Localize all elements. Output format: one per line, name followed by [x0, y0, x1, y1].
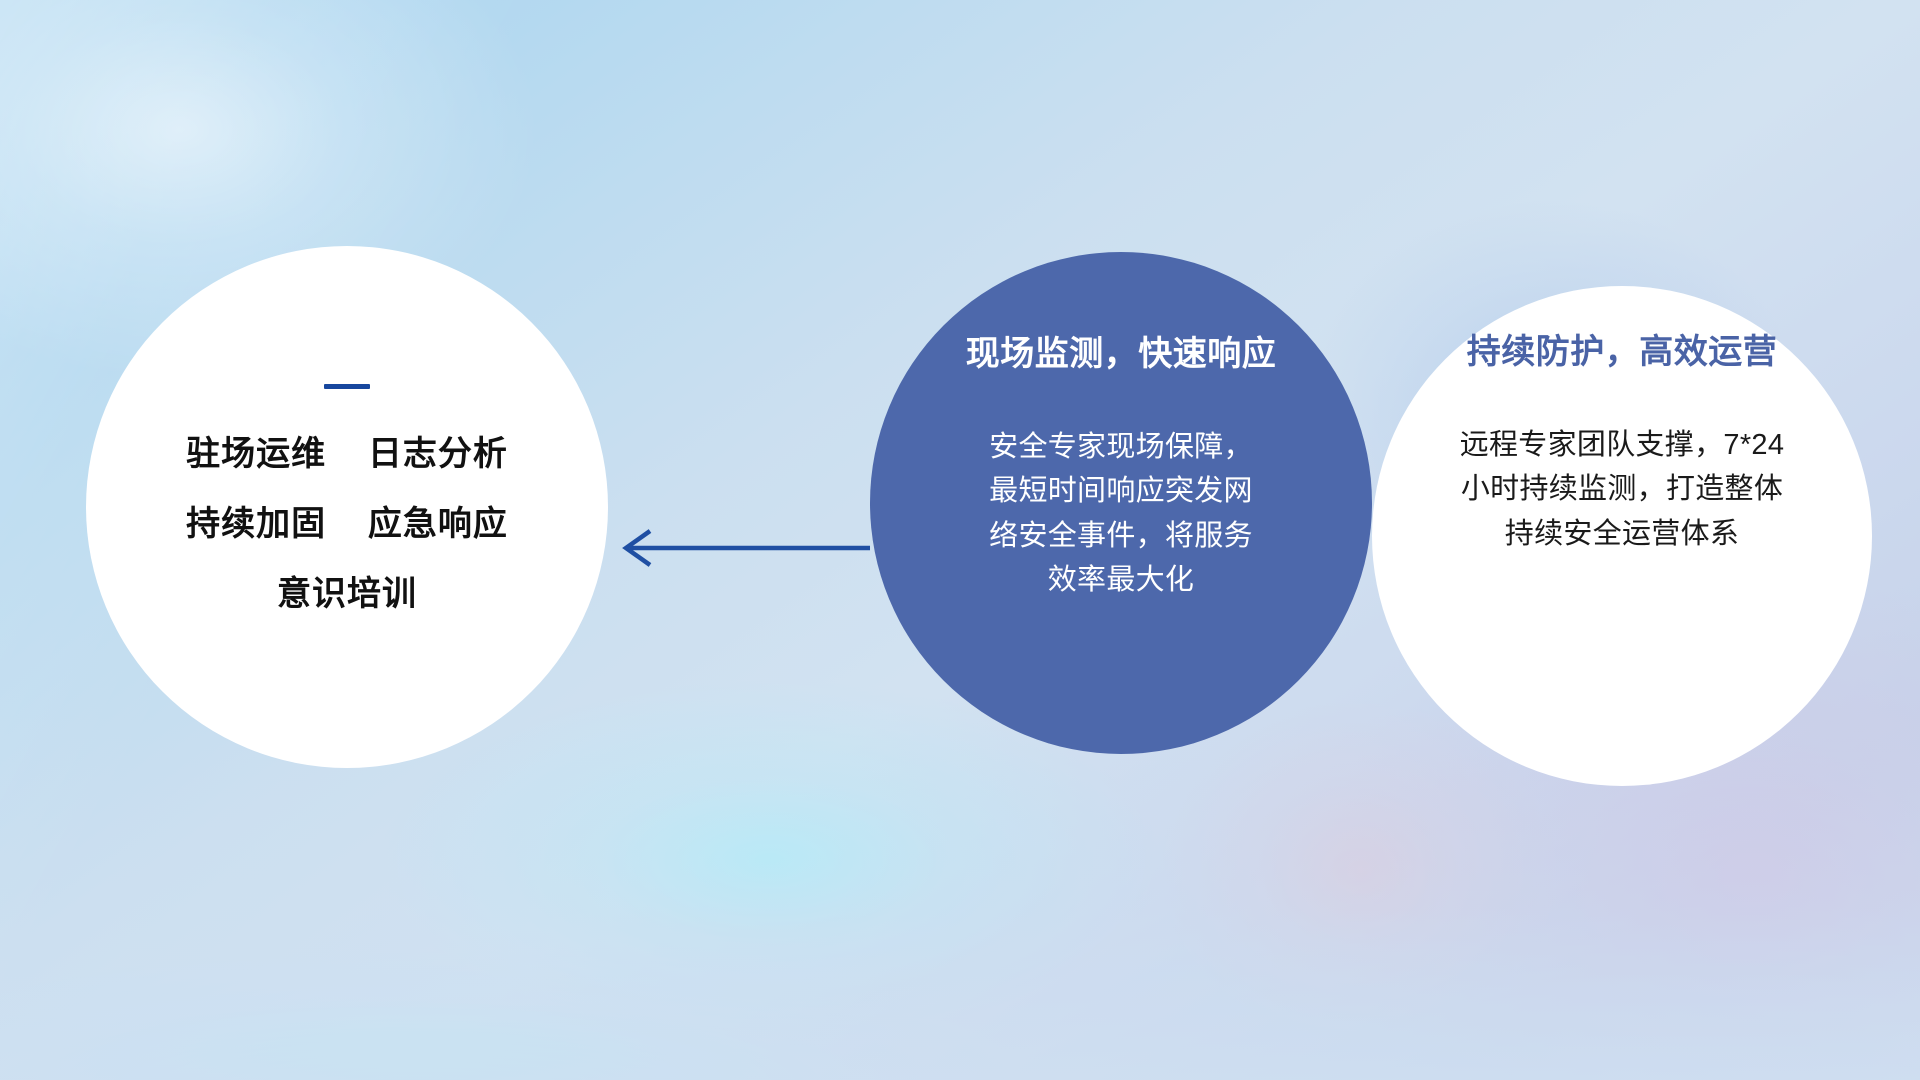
middle-circle-body-line-4: 效率最大化 — [921, 558, 1321, 602]
slide-canvas: 驻场运维 日志分析 持续加固 应急响应 意识培训 现场监测，快速响应 安全专家现… — [0, 0, 1920, 1080]
left-circle-content: 驻场运维 日志分析 持续加固 应急响应 意识培训 — [132, 384, 562, 611]
right-circle-body-line-2: 小时持续监测，打造整体 — [1420, 467, 1824, 511]
right-circle-body-line-3: 持续安全运营体系 — [1420, 512, 1824, 556]
right-circle-body-line-1: 远程专家团队支撑，7*24 — [1420, 423, 1824, 467]
right-circle-body: 远程专家团队支撑，7*24 小时持续监测，打造整体 持续安全运营体系 — [1420, 423, 1824, 555]
middle-circle-body-line-1: 安全专家现场保障， — [921, 425, 1321, 469]
middle-circle-body-line-3: 络安全事件，将服务 — [921, 514, 1321, 558]
arrow-left-icon — [612, 516, 872, 580]
right-circle-title: 持续防护，高效运营 — [1420, 334, 1824, 371]
middle-circle-title: 现场监测，快速响应 — [921, 336, 1321, 373]
capability-circle-right[interactable]: 持续防护，高效运营 远程专家团队支撑，7*24 小时持续监测，打造整体 持续安全… — [1372, 286, 1872, 786]
left-circle-line-2: 持续加固 应急响应 — [132, 507, 562, 541]
right-circle-content: 持续防护，高效运营 远程专家团队支撑，7*24 小时持续监测，打造整体 持续安全… — [1420, 334, 1824, 556]
capability-circle-middle[interactable]: 现场监测，快速响应 安全专家现场保障， 最短时间响应突发网 络安全事件，将服务 … — [870, 252, 1372, 754]
capability-circle-left[interactable]: 驻场运维 日志分析 持续加固 应急响应 意识培训 — [86, 246, 608, 768]
left-circle-line-1: 驻场运维 日志分析 — [132, 437, 562, 471]
middle-circle-content: 现场监测，快速响应 安全专家现场保障， 最短时间响应突发网 络安全事件，将服务 … — [921, 336, 1321, 602]
left-circle-line-3: 意识培训 — [132, 577, 562, 611]
divider-dash-icon — [324, 384, 370, 389]
middle-circle-body-line-2: 最短时间响应突发网 — [921, 469, 1321, 513]
middle-circle-body: 安全专家现场保障， 最短时间响应突发网 络安全事件，将服务 效率最大化 — [921, 425, 1321, 601]
